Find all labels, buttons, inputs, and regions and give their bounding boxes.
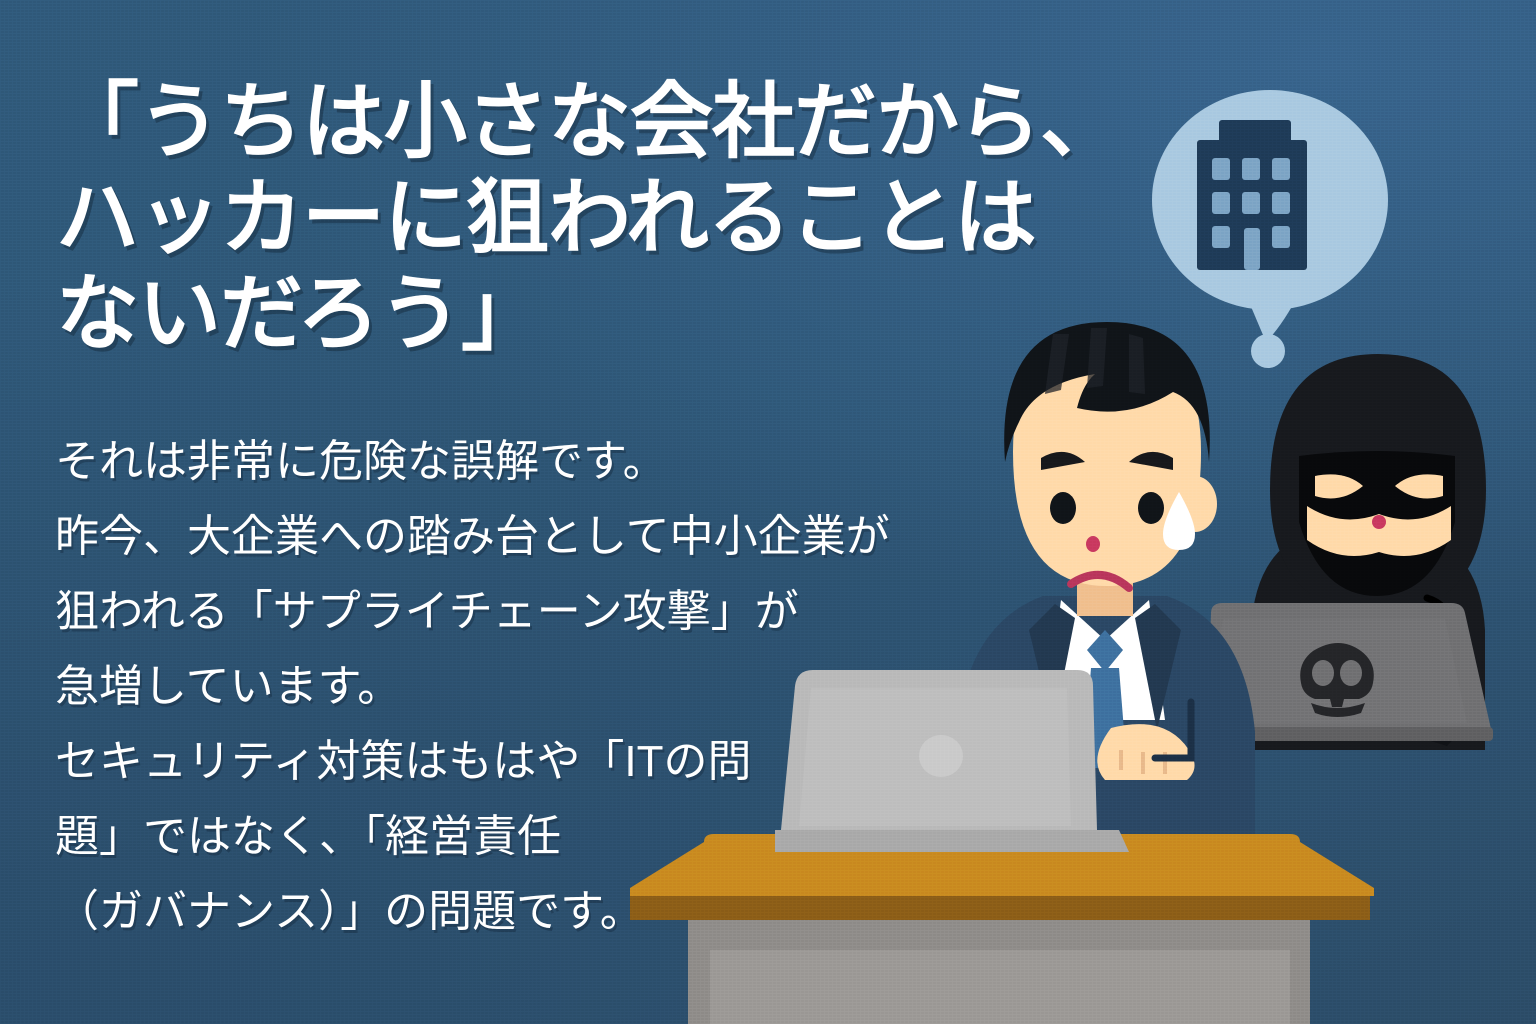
body-line-1: それは非常に危険な誤解です。: [55, 424, 1005, 499]
body-line-6: 題」ではなく、「経営責任: [55, 799, 1005, 874]
nose: [1086, 536, 1100, 552]
body-line-3: 狙われる「サプライチェーン攻撃」が: [55, 574, 1005, 649]
body-line-4: 急増しています。: [55, 649, 1005, 724]
office-building-icon: [1197, 120, 1307, 270]
eye-left: [1050, 492, 1076, 524]
poster-canvas: 「うちは小さな会社だから、 ハッカーに狙われることは ないだろう」 それは非常に…: [0, 0, 1536, 1024]
headline-line-3: ないだろう」: [56, 266, 1116, 362]
hacker-nose: [1372, 515, 1386, 529]
headline: 「うちは小さな会社だから、 ハッカーに狙われることは ないだろう」: [56, 74, 1116, 362]
eye-right: [1138, 492, 1164, 524]
body-line-5: セキュリティ対策はもはや「ITの問: [55, 724, 1005, 799]
body-line-2: 昨今、大企業への踏み台として中小企業が: [55, 499, 1005, 574]
body-line-7: （ガバナンス）」の問題です。: [55, 874, 1005, 949]
headline-line-1: 「うちは小さな会社だから、: [56, 74, 1116, 170]
headline-line-2: ハッカーに狙われることは: [56, 170, 1116, 266]
desk-body-front: [710, 950, 1290, 1024]
body-copy: それは非常に危険な誤解です。 昨今、大企業への踏み台として中小企業が 狙われる「…: [55, 424, 1005, 949]
